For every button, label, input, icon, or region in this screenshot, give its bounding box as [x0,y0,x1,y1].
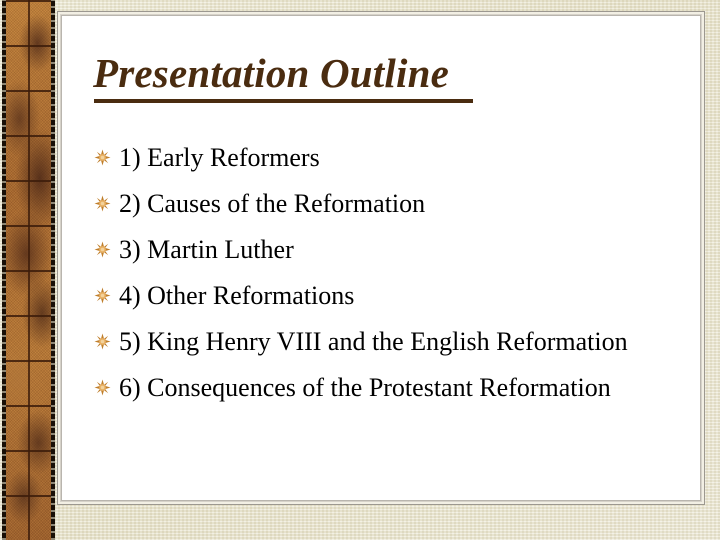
list-item-label: 4) Other Reformations [119,281,354,310]
six-point-star-bullet-icon [94,149,111,166]
title-underline [94,99,473,103]
list-item-label: 5) King Henry VIII and the English Refor… [119,327,628,356]
list-item: 2) Causes of the Reformation [94,187,673,221]
outline-list: 1) Early Reformers [94,141,673,405]
slide: Presentation Outline [0,0,720,540]
six-point-star-bullet-icon [94,241,111,258]
list-item: 3) Martin Luther [94,233,673,267]
six-point-star-bullet-icon [94,333,111,350]
list-item-label: 1) Early Reformers [119,143,320,172]
list-item-label: 2) Causes of the Reformation [119,189,425,218]
list-item: 4) Other Reformations [94,279,673,313]
list-item: 6) Consequences of the Protestant Reform… [94,371,673,405]
six-point-star-bullet-icon [94,287,111,304]
list-item: 5) King Henry VIII and the English Refor… [94,325,673,359]
page-title: Presentation Outline [93,53,449,94]
list-item-label: 6) Consequences of the Protestant Reform… [119,373,611,402]
decorative-marble-strip [2,0,55,540]
six-point-star-bullet-icon [94,379,111,396]
list-item: 1) Early Reformers [94,141,673,175]
list-item-label: 3) Martin Luther [119,235,294,264]
content-panel: Presentation Outline [62,16,700,500]
six-point-star-bullet-icon [94,195,111,212]
